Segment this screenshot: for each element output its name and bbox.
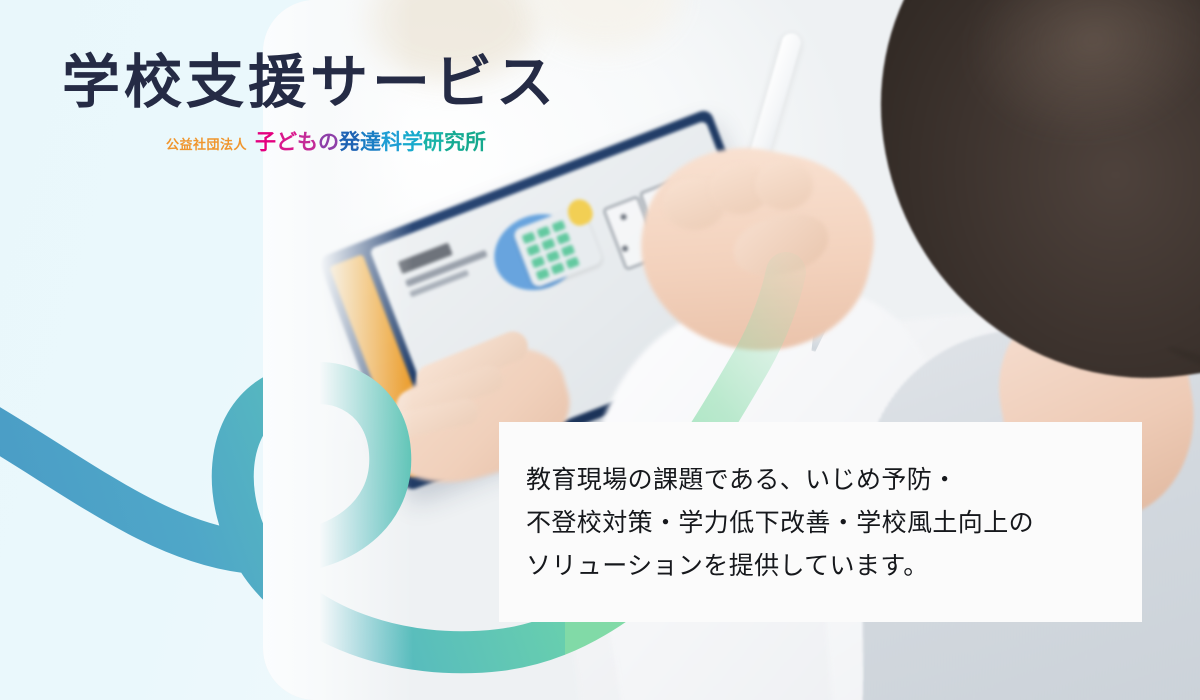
page-title: 学校支援サービス	[62, 52, 558, 113]
logo-char-10: 所	[465, 126, 486, 156]
description-line: ソリューションを提供しています。	[526, 544, 1034, 587]
knuckle	[755, 160, 813, 210]
logo-prefix: 公益社団法人	[166, 134, 247, 153]
title-block: 学校支援サービス 公益社団法人 子どもの発達科学研究所	[62, 52, 558, 156]
description-text-block: 教育現場の課題である、いじめ予防・ 不登校対策・学力低下改善・学校風土向上の ソ…	[499, 458, 1034, 587]
logo-char-0: 子	[255, 126, 276, 156]
logo-name: 子どもの発達科学研究所	[255, 126, 486, 156]
organization-logo: 公益社団法人 子どもの発達科学研究所	[166, 126, 558, 156]
logo-char-4: 発	[339, 126, 360, 156]
logo-char-5: 達	[360, 126, 381, 156]
logo-char-9: 究	[444, 126, 465, 156]
logo-char-8: 研	[423, 126, 444, 156]
hero-banner: 学校支援サービス 公益社団法人 子どもの発達科学研究所 教育現場の課題である、い…	[0, 0, 1200, 700]
logo-char-7: 学	[402, 126, 423, 156]
logo-char-1: ど	[276, 126, 297, 156]
logo-char-6: 科	[381, 126, 402, 156]
logo-char-3: の	[318, 126, 339, 156]
description-line: 教育現場の課題である、いじめ予防・	[526, 458, 1034, 501]
logo-char-2: も	[297, 126, 318, 156]
description-line: 不登校対策・学力低下改善・学校風土向上の	[526, 501, 1034, 544]
description-card: 教育現場の課題である、いじめ予防・ 不登校対策・学力低下改善・学校風土向上の ソ…	[499, 422, 1142, 622]
